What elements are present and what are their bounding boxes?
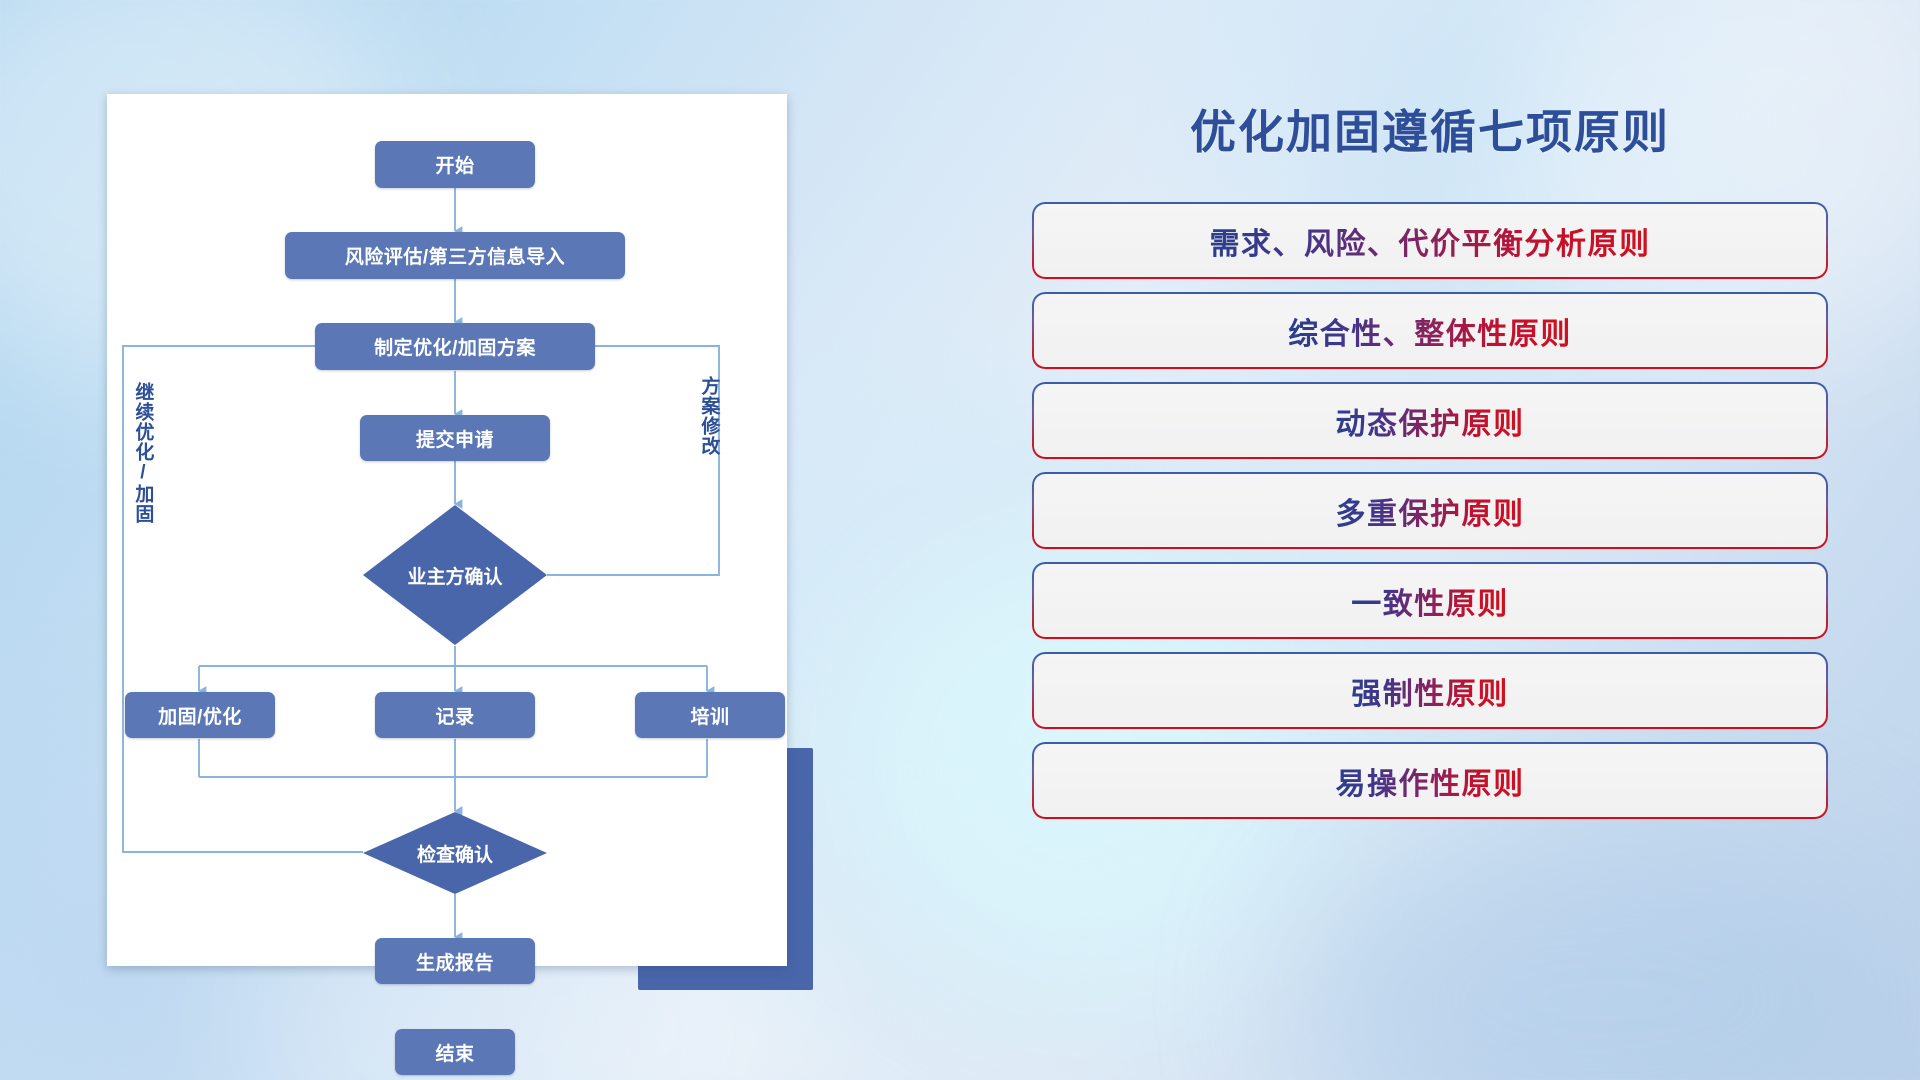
flow-node-reinforce-optimize[interactable]: 加固/优化 (125, 692, 275, 738)
principles-title: 优化加固遵循七项原则 (1020, 96, 1840, 162)
principle-card-3[interactable]: 动态保护原则 (1034, 384, 1826, 457)
flowchart-card: 开始 风险评估/第三方信息导入 制定优化/加固方案 提交申请 业主方确认 加固/… (107, 94, 787, 966)
principle-label-7: 易操作性原则 (1336, 759, 1525, 803)
flow-node-make-plan-label: 制定优化/加固方案 (374, 333, 536, 360)
principle-label-6: 强制性原则 (1351, 669, 1509, 713)
flow-node-submit-application-label: 提交申请 (416, 425, 494, 452)
principle-card-6[interactable]: 强制性原则 (1034, 654, 1826, 727)
flow-node-owner-confirm[interactable]: 业主方确认 (363, 505, 547, 645)
flow-node-record[interactable]: 记录 (375, 692, 535, 738)
flow-node-record-label: 记录 (435, 702, 474, 729)
flow-node-start[interactable]: 开始 (375, 141, 535, 188)
flow-node-risk-assessment-label: 风险评估/第三方信息导入 (345, 242, 565, 269)
flow-node-make-plan[interactable]: 制定优化/加固方案 (315, 323, 595, 370)
principle-label-4: 多重保护原则 (1336, 489, 1525, 533)
flow-node-start-label: 开始 (435, 151, 474, 178)
flowchart-canvas: 开始 风险评估/第三方信息导入 制定优化/加固方案 提交申请 业主方确认 加固/… (107, 94, 787, 966)
principles-panel: 优化加固遵循七项原则 需求、风险、代价平衡分析原则 综合性、整体性原则 动态保护… (1020, 96, 1840, 1016)
flow-node-generate-report-label: 生成报告 (416, 948, 494, 975)
flow-node-training[interactable]: 培训 (635, 692, 785, 738)
flow-edge-label-right-loop: 方案修改 (699, 376, 718, 506)
principle-label-5: 一致性原则 (1351, 579, 1509, 623)
flow-node-generate-report[interactable]: 生成报告 (375, 938, 535, 984)
principle-card-7[interactable]: 易操作性原则 (1034, 744, 1826, 817)
flow-node-submit-application[interactable]: 提交申请 (360, 415, 550, 461)
flow-node-end[interactable]: 结束 (395, 1029, 515, 1075)
principle-label-2: 综合性、整体性原则 (1288, 309, 1572, 353)
principle-card-1[interactable]: 需求、风险、代价平衡分析原则 (1034, 204, 1826, 277)
flow-node-reinforce-optimize-label: 加固/优化 (158, 702, 242, 729)
flow-node-risk-assessment[interactable]: 风险评估/第三方信息导入 (285, 232, 625, 279)
principle-card-4[interactable]: 多重保护原则 (1034, 474, 1826, 547)
flow-node-end-label: 结束 (435, 1039, 474, 1066)
principle-label-1: 需求、风险、代价平衡分析原则 (1210, 219, 1651, 263)
owner-confirm-diamond-shape (363, 505, 547, 645)
principle-card-2[interactable]: 综合性、整体性原则 (1034, 294, 1826, 367)
flow-node-check-confirm[interactable]: 检查确认 (363, 812, 547, 894)
principle-label-3: 动态保护原则 (1336, 399, 1525, 443)
principle-card-5[interactable]: 一致性原则 (1034, 564, 1826, 637)
check-confirm-diamond-shape (363, 812, 547, 894)
flow-node-training-label: 培训 (690, 702, 729, 729)
flow-edge-label-left-loop: 继续优化/加固 (133, 382, 152, 572)
